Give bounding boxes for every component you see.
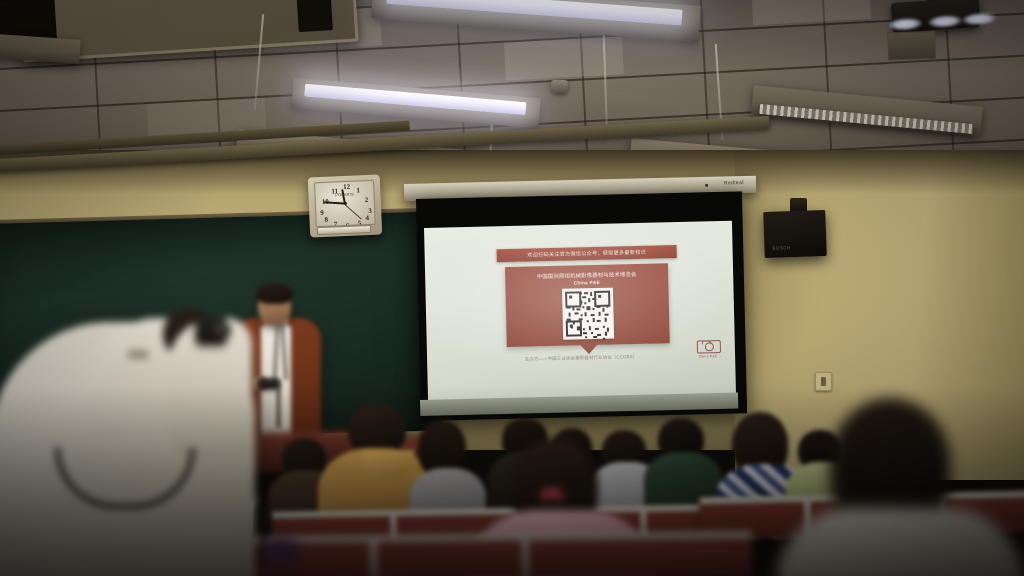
lecture-hall-screenshot: POLARIS 12 1 2 3 4 5 6 7 8 9 10 11 BOSCH… <box>0 0 1024 576</box>
clock-numeral: 2 <box>365 196 369 204</box>
clock-numeral: 9 <box>320 209 324 217</box>
camera-icon <box>697 340 719 354</box>
clock-numeral: 11 <box>331 187 338 195</box>
clock-numeral: 8 <box>324 216 328 224</box>
presentation-slide: 欢迎扫码关注官方微信公众号，获取更多最新知识 中国国际照相机械影像器材与技术博览… <box>424 221 736 403</box>
projector-ceiling-plate <box>887 31 936 61</box>
presenter-head <box>258 286 291 326</box>
purple-bag <box>265 538 299 564</box>
housing-indicator <box>705 184 708 187</box>
clock-second-hand <box>345 204 362 219</box>
presenter-hair <box>256 283 293 304</box>
slide-logo-text: China P&E <box>699 354 718 358</box>
presenter-remote-clicker <box>258 378 279 389</box>
clock-numeral: 12 <box>343 183 350 191</box>
clock-center-pin <box>343 202 346 205</box>
slide-banner-text: 欢迎扫码关注官方微信公众号，获取更多最新知识 <box>527 249 646 259</box>
screen-brand-label: Redleaf <box>724 180 744 186</box>
qr-code-canvas <box>564 290 612 338</box>
wall-clock: POLARIS 12 1 2 3 4 5 6 7 8 9 10 11 <box>308 175 382 238</box>
slide-qr-card: 中国国际照相机械影像器材与技术博览会 China P&E <box>505 263 670 347</box>
speaker-brand: BOSCH <box>772 245 790 251</box>
clock-face: POLARIS 12 1 2 3 4 5 6 7 8 9 10 11 <box>314 180 376 227</box>
slide-card-pointer <box>579 344 597 354</box>
bench-divider <box>370 535 377 576</box>
wall-speaker: BOSCH <box>763 210 827 258</box>
slide-logo: China P&E <box>695 338 722 361</box>
projector-screen: 欢迎扫码关注官方微信公众号，获取更多最新知识 中国国际照相机械影像器材与技术博览… <box>424 221 736 403</box>
bench-row-1 <box>232 531 752 576</box>
clock-lower-panel <box>317 225 371 235</box>
bench-divider <box>522 534 529 576</box>
wall-power-socket[interactable] <box>815 372 832 391</box>
smoke-detector <box>551 80 568 93</box>
clock-numeral: 1 <box>356 186 360 194</box>
sweater-label <box>128 350 148 359</box>
slide-banner: 欢迎扫码关注官方微信公众号，获取更多最新知识 <box>497 245 677 262</box>
camera-lens-icon <box>214 322 231 339</box>
ceiling-mounted-projector <box>880 0 991 50</box>
clock-numeral: 4 <box>365 214 369 222</box>
qr-code <box>561 288 613 340</box>
